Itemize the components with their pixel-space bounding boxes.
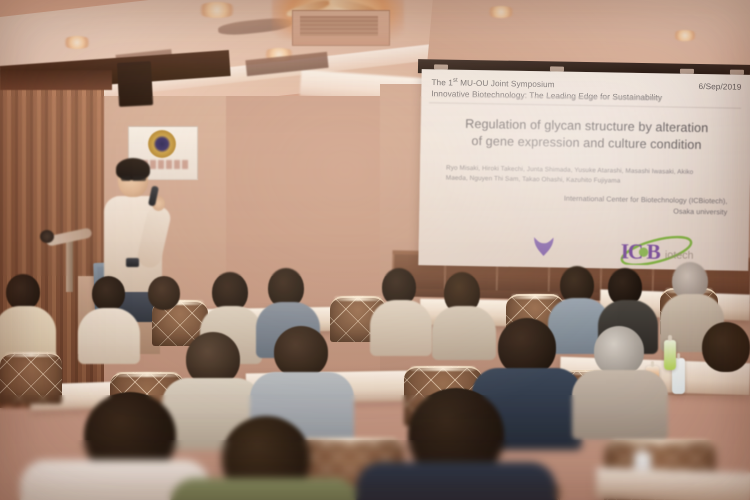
downlight-icon [196,2,238,18]
slide-subtitle: Innovative Biotechnology: The Leading Ed… [431,89,662,102]
audience-head [702,322,750,372]
slide-affiliation: International Center for Biotechnology (… [479,192,727,217]
audience-torso-foreground [170,478,360,500]
conference-photograph: The 1st MU-OU Joint Symposium 6/Sep/2019… [0,0,750,500]
loudspeaker [117,61,153,107]
slide-authors: Ryo Misaki, Hiroki Takechi, Junta Shimad… [446,164,704,187]
projection-screen: The 1st MU-OU Joint Symposium 6/Sep/2019… [418,69,750,271]
projector-grille [300,16,378,36]
royal-emblem-icon [148,130,176,158]
slide-header-title: The 1st MU-OU Joint Symposium [431,77,554,89]
laser-pointer [126,258,139,267]
downlight-icon [62,36,92,49]
slide-title: Regulation of glycan structure by altera… [436,115,737,154]
lectern-lamp-head [40,230,54,243]
mahidol-mark-logo [528,231,559,262]
audience-torso [78,308,140,364]
curtain-rail [0,70,112,90]
svg-text:B: B [646,240,661,264]
downlight-icon [672,30,698,41]
mahidol-seal-logo [470,230,501,261]
svg-text:iotech: iotech [665,249,694,261]
lectern-lamp-pole [66,240,73,292]
audience-torso-foreground [356,462,556,500]
audience-torso [370,300,432,356]
icbiotech-logo: I C B iotech [614,235,723,267]
audience-table [596,467,750,500]
downlight-icon [486,6,516,18]
audience-head [92,276,125,311]
chair [0,352,62,404]
slide-divider [429,102,741,108]
audience-torso [432,306,496,360]
audience-head [6,274,40,310]
presenter-glasses [121,176,146,181]
audience-torso [572,370,668,440]
audience-head [148,276,180,310]
green-tea-bottle [664,340,676,370]
audience-head [594,326,644,376]
slide-date: 6/Sep/2019 [699,82,742,92]
audience-head [274,326,328,378]
